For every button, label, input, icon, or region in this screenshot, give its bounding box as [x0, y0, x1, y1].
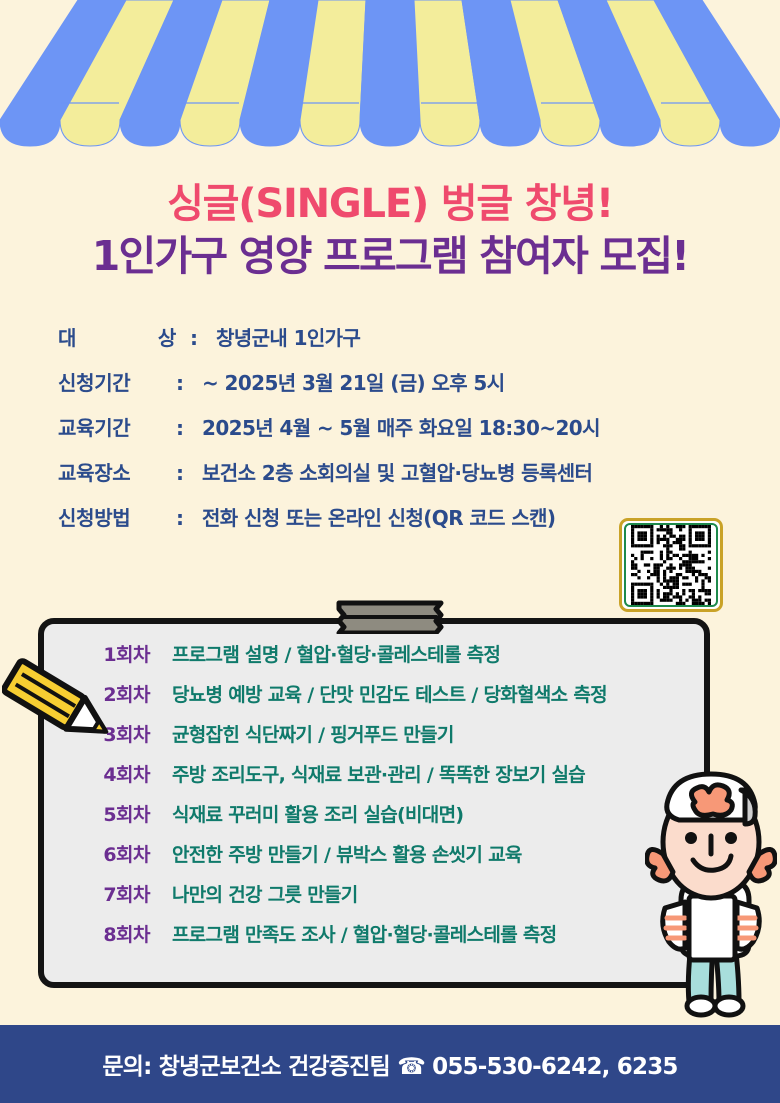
info-value-how-to-apply: 전화 신청 또는 온라인 신청(QR 코드 스캔): [202, 502, 555, 531]
qr-code[interactable]: [619, 518, 723, 612]
session-description: 식재료 꾸러미 활용 조리 실습(비대면): [172, 800, 463, 827]
session-number: 5회차: [44, 800, 172, 827]
info-colon-application-period: :: [176, 371, 202, 395]
session-description: 당뇨병 예방 교육 / 단맛 민감도 테스트 / 당화혈색소 측정: [172, 680, 607, 707]
info-value-education-period: 2025년 4월 ~ 5월 매주 화요일 18:30~20시: [202, 412, 600, 441]
footer-contact-text: 문의: 창녕군보건소 건강증진팀 ☎ 055-530-6242, 6235: [102, 1047, 677, 1081]
clipboard-clip: [333, 600, 447, 634]
session-row: 6회차안전한 주방 만들기 / 뷰박스 활용 손씻기 교육: [44, 840, 704, 880]
session-row: 7회차나만의 건강 그릇 만들기: [44, 880, 704, 920]
info-colon-education-period: :: [176, 416, 202, 440]
info-colon-target: :: [190, 326, 216, 350]
session-description: 균형잡힌 식단짜기 / 핑거푸드 만들기: [172, 720, 454, 747]
poster-title-line2: 1인가구 영양 프로그램 참여자 모집!: [0, 232, 780, 281]
session-description: 프로그램 설명 / 혈압·혈당·콜레스테롤 측정: [172, 640, 500, 667]
info-label-education-period: 교육기간: [58, 412, 176, 441]
info-row-education-period: 교육기간 : 2025년 4월 ~ 5월 매주 화요일 18:30~20시: [58, 412, 748, 457]
info-label-target-a: 대: [58, 322, 76, 351]
session-row: 8회차프로그램 만족도 조사 / 혈압·혈당·콜레스테롤 측정: [44, 920, 704, 960]
session-row: 1회차프로그램 설명 / 혈압·혈당·콜레스테롤 측정: [44, 640, 704, 680]
info-row-application-period: 신청기간 : ~ 2025년 3월 21일 (금) 오후 5시: [58, 367, 748, 412]
awning-decoration: [0, 0, 780, 158]
session-row: 3회차균형잡힌 식단짜기 / 핑거푸드 만들기: [44, 720, 704, 760]
info-label-location: 교육장소: [58, 457, 176, 486]
awning-svg: [0, 0, 780, 158]
pencil-icon: [2, 652, 118, 756]
info-row-location: 교육장소 : 보건소 2층 소회의실 및 고혈압·당뇨병 등록센터: [58, 457, 748, 502]
poster-root: 싱글(SINGLE) 벙글 창녕! 1인가구 영양 프로그램 참여자 모집! 대…: [0, 0, 780, 1103]
info-list: 대 상 : 창녕군내 1인가구 신청기간 : ~ 2025년 3월 21일 (금…: [58, 322, 748, 547]
session-number: 6회차: [44, 840, 172, 867]
session-number: 4회차: [44, 760, 172, 787]
info-colon-how-to-apply: :: [176, 506, 202, 530]
session-description: 주방 조리도구, 식재료 보관·관리 / 똑똑한 장보기 실습: [172, 760, 585, 787]
session-description: 나만의 건강 그릇 만들기: [172, 880, 358, 907]
footer-contact-bar: 문의: 창녕군보건소 건강증진팀 ☎ 055-530-6242, 6235: [0, 1025, 780, 1103]
info-label-target-b: 상: [158, 322, 176, 351]
curriculum-board: 1회차프로그램 설명 / 혈압·혈당·콜레스테롤 측정2회차당뇨병 예방 교육 …: [38, 618, 710, 988]
info-value-application-period: ~ 2025년 3월 21일 (금) 오후 5시: [202, 367, 505, 396]
session-list: 1회차프로그램 설명 / 혈압·혈당·콜레스테롤 측정2회차당뇨병 예방 교육 …: [44, 640, 704, 960]
info-value-target: 창녕군내 1인가구: [216, 322, 360, 351]
info-label-target: 대 상: [58, 322, 190, 351]
session-number: 7회차: [44, 880, 172, 907]
session-description: 안전한 주방 만들기 / 뷰박스 활용 손씻기 교육: [172, 840, 522, 867]
session-row: 2회차당뇨병 예방 교육 / 단맛 민감도 테스트 / 당화혈색소 측정: [44, 680, 704, 720]
info-colon-location: :: [176, 461, 202, 485]
poster-title-line1: 싱글(SINGLE) 벙글 창녕!: [0, 181, 780, 228]
info-label-application-period: 신청기간: [58, 367, 176, 396]
session-number: 8회차: [44, 920, 172, 947]
clipboard-clip-icon: [333, 600, 447, 634]
info-label-how-to-apply: 신청방법: [58, 502, 176, 531]
session-row: 5회차식재료 꾸러미 활용 조리 실습(비대면): [44, 800, 704, 840]
qr-code-icon: [627, 525, 715, 605]
chef-mascot-icon: [645, 768, 777, 1024]
info-value-location: 보건소 2층 소회의실 및 고혈압·당뇨병 등록센터: [202, 457, 592, 486]
session-description: 프로그램 만족도 조사 / 혈압·혈당·콜레스테롤 측정: [172, 920, 556, 947]
session-row: 4회차주방 조리도구, 식재료 보관·관리 / 똑똑한 장보기 실습: [44, 760, 704, 800]
chef-mascot: [645, 768, 777, 1024]
info-row-target: 대 상 : 창녕군내 1인가구: [58, 322, 748, 367]
qr-code-inner: [624, 523, 718, 607]
title-block: 싱글(SINGLE) 벙글 창녕! 1인가구 영양 프로그램 참여자 모집!: [0, 181, 780, 281]
